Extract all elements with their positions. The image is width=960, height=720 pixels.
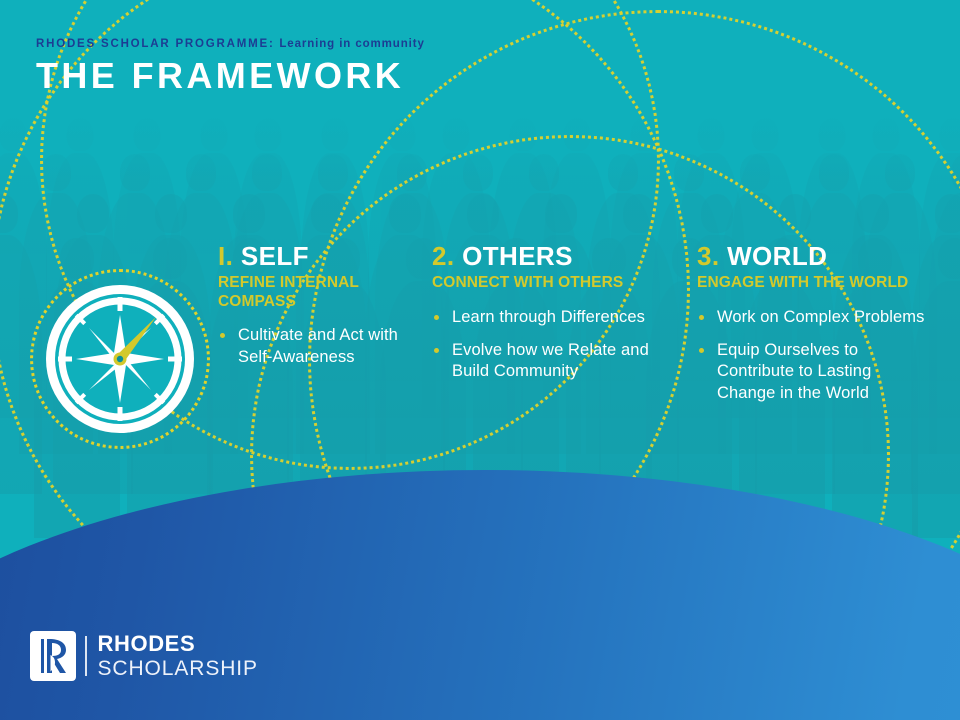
logo-divider — [85, 636, 87, 676]
column-heading: I. SELF — [218, 243, 398, 270]
column-number: I. — [218, 241, 233, 271]
bullet-dot-icon — [220, 333, 225, 338]
bullet-dot-icon — [699, 315, 704, 320]
column-bullet-list: Cultivate and Act with Self-Awareness — [218, 325, 398, 369]
list-item: Evolve how we Relate and Build Community — [432, 340, 670, 384]
compass-icon — [44, 283, 196, 435]
column-heading: 3. WORLD — [697, 243, 929, 270]
list-item: Equip Ourselves to Contribute to Lasting… — [697, 340, 929, 405]
bullet-dot-icon — [434, 315, 439, 320]
bullet-dot-icon — [434, 348, 439, 353]
slide-canvas: RHODES SCHOLAR PROGRAMME: Learning in co… — [0, 0, 960, 720]
column-world: 3. WORLD ENGAGE WITH THE WORLD Work on C… — [697, 243, 929, 416]
logo-line-scholarship: SCHOLARSHIP — [98, 658, 258, 679]
column-number: 2. — [432, 241, 454, 271]
column-self: I. SELF REFINE INTERNAL COMPASS Cultivat… — [218, 243, 398, 380]
page-title: THE FRAMEWORK — [36, 57, 425, 95]
compass-icon-svg — [44, 283, 196, 435]
bullet-dot-icon — [699, 348, 704, 353]
list-item-text: Learn through Differences — [452, 308, 645, 326]
list-item-text: Cultivate and Act with Self-Awareness — [238, 326, 398, 366]
list-item-text: Work on Complex Problems — [717, 308, 925, 326]
eyebrow-text: RHODES SCHOLAR PROGRAMME: Learning in co… — [36, 38, 425, 50]
column-bullet-list: Learn through Differences Evolve how we … — [432, 307, 670, 383]
rhodes-scholarship-logo: RHODES SCHOLARSHIP — [30, 631, 258, 681]
rhodes-r-monogram-icon — [30, 631, 76, 681]
column-subtitle: CONNECT WITH OTHERS — [432, 274, 670, 293]
column-bullet-list: Work on Complex Problems Equip Ourselves… — [697, 307, 929, 405]
list-item-text: Equip Ourselves to Contribute to Lasting… — [717, 341, 871, 403]
column-others: 2. OTHERS CONNECT WITH OTHERS Learn thro… — [432, 243, 670, 394]
header-block: RHODES SCHOLAR PROGRAMME: Learning in co… — [36, 38, 425, 95]
column-number: 3. — [697, 241, 719, 271]
column-subtitle: ENGAGE WITH THE WORLD — [697, 274, 929, 293]
column-name: OTHERS — [462, 241, 573, 271]
column-subtitle: REFINE INTERNAL COMPASS — [218, 274, 398, 311]
list-item-text: Evolve how we Relate and Build Community — [452, 341, 649, 381]
column-name: WORLD — [727, 241, 827, 271]
list-item: Cultivate and Act with Self-Awareness — [218, 325, 398, 369]
logo-wordmark: RHODES SCHOLARSHIP — [98, 633, 258, 679]
logo-line-rhodes: RHODES — [98, 633, 258, 655]
eyebrow-tail: Learning in community — [279, 38, 424, 50]
column-name: SELF — [241, 241, 309, 271]
list-item: Learn through Differences — [432, 307, 670, 329]
eyebrow-lead: RHODES SCHOLAR PROGRAMME: — [36, 38, 275, 50]
list-item: Work on Complex Problems — [697, 307, 929, 329]
column-heading: 2. OTHERS — [432, 243, 670, 270]
